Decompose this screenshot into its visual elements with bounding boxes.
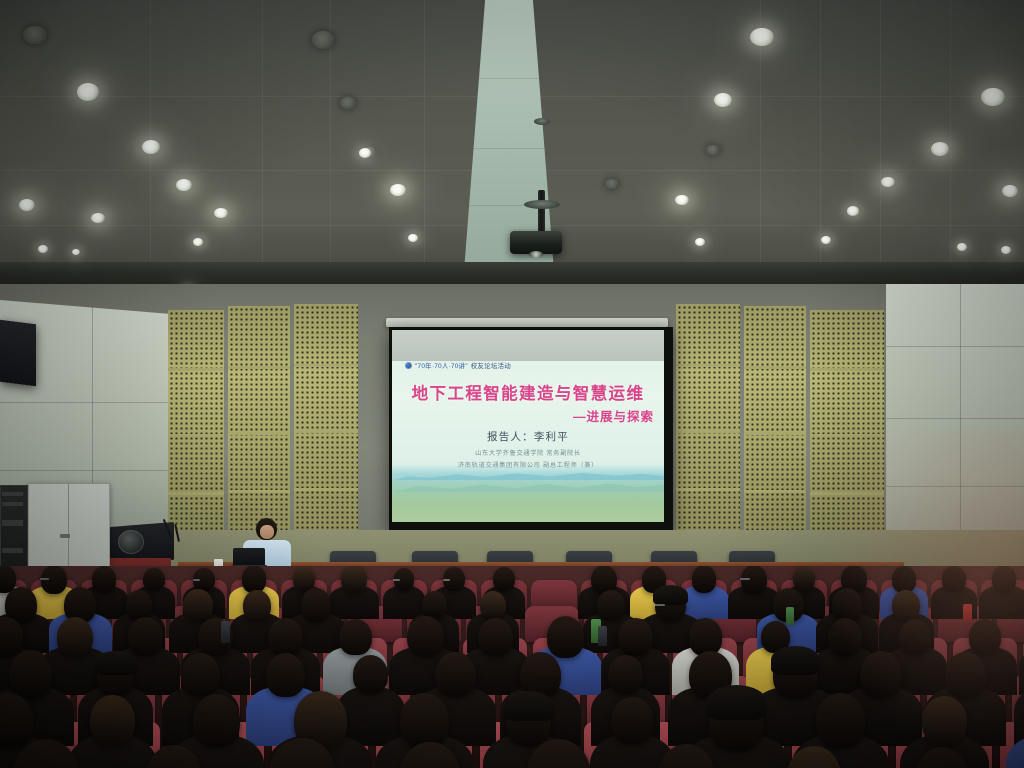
attendee-head [992,566,1017,593]
recessed-downlight-icon [312,31,334,48]
baseball-cap-icon [653,585,688,605]
wall-panel-right [886,284,1024,554]
recessed-downlight-icon [359,148,371,157]
attendee-head [860,651,902,698]
attendee-head [242,566,267,593]
forum-logo-icon [405,362,412,369]
slide-presenter: 报告人：李利平 [392,429,664,444]
attendee-head [597,590,625,621]
attendee-head [435,652,476,698]
attendee-head [608,655,643,694]
slide-ridge-near [392,478,664,492]
slide-affiliation-1: 山东大学齐鲁交通学院 常务副院长 [392,448,664,457]
recessed-downlight-icon [23,26,47,45]
attendee-head [969,619,1001,655]
attendee-head [128,617,163,656]
attendee-head [689,618,723,655]
eyeglasses-icon [443,579,451,581]
projector-lens-icon [529,251,543,258]
attendee-head [181,653,220,696]
attendee-head [143,568,164,592]
slide-top-band [392,330,664,361]
attendee-head [9,650,53,699]
recessed-downlight-icon [821,236,831,244]
attendee-head [547,616,584,658]
acoustic-panel-left-outer [168,310,224,534]
attendee-head [892,566,917,593]
attendee-head [480,591,506,620]
attendee-head [611,697,654,745]
recessed-downlight-icon [72,249,80,255]
attendee-head [57,617,93,657]
recessed-downlight-icon [847,206,859,215]
slide-subtitle: —进展与探索 [573,406,654,425]
acoustic-panel-right-outer [810,310,884,534]
ceiling-soffit-upper [0,262,1024,274]
attendee-head [92,566,116,593]
recessed-downlight-icon [193,238,203,246]
slide-badge-quote: "70年·70人·70讲" [415,360,468,370]
attendee-head [493,567,515,591]
water-bottle-icon [598,626,607,646]
attendee-head [892,590,920,621]
recessed-downlight-icon [390,184,406,196]
attendee-head [618,618,653,657]
attendee-head [126,590,152,619]
seated-presenter-face [260,525,274,539]
wall-speaker-icon [0,320,36,386]
attendee-head [341,566,366,593]
recessed-downlight-icon [142,140,160,154]
attendee-head [266,653,305,697]
recessed-downlight-icon [957,243,967,251]
projection-screen-housing [386,318,668,327]
recessed-downlight-icon [1001,246,1011,254]
recessed-downlight-icon [408,234,418,242]
baseball-cap-icon [94,651,136,675]
acoustic-panel-right-inner [676,304,740,534]
slide-badge-subtitle: 校友论坛活动 [471,360,511,370]
recessed-downlight-icon [981,88,1005,107]
recessed-downlight-icon [695,238,705,246]
eyeglasses-icon [654,604,665,606]
attendee-head [268,618,302,656]
attendee-head [90,695,135,745]
attendee-head [407,616,444,657]
slide-landscape-image [392,464,664,522]
attendee-head [193,694,241,747]
attendee-head [339,619,371,655]
slide-title: 地下工程智能建造与智慧运维 [392,380,664,404]
attendee-head [353,655,388,694]
acoustic-panel-right-mid [744,306,806,534]
recessed-downlight-icon [1002,185,1018,197]
recessed-downlight-icon [176,179,192,191]
recessed-downlight-icon [38,245,48,253]
presentation-slide: "70年·70人·70讲" 校友论坛活动 地下工程智能建造与智慧运维 —进展与探… [392,330,664,522]
baseball-cap-icon [503,691,554,720]
acoustic-panel-left-third [294,304,358,534]
acoustic-panel-left-inner [228,306,290,534]
recessed-downlight-icon [77,83,99,100]
audience-area [0,566,1024,768]
ceiling-projector-pole [538,190,545,232]
attendee-head [243,590,271,621]
eyeglasses-icon [193,579,200,581]
lecture-hall-photo: "70年·70人·70讲" 校友论坛活动 地下工程智能建造与智慧运维 —进展与探… [0,0,1024,768]
attendee-head [832,588,863,622]
attendee-head [793,567,814,591]
university-seal-icon [118,530,144,554]
attendee-head [692,566,717,593]
ceiling-projector-collar [524,200,560,209]
laptop-icon [233,548,265,566]
baseball-cap-icon [771,646,821,674]
attendee-head [922,696,967,746]
recessed-downlight-icon [340,97,356,109]
attendee-head [301,588,331,622]
attendee-head [816,693,865,747]
water-bottle-icon [221,621,230,643]
baseball-cap-icon [706,685,767,720]
recessed-downlight-icon [931,142,949,156]
eyeglasses-icon [393,579,400,581]
recessed-downlight-icon [714,93,732,107]
attendee-head [183,589,212,622]
attendee-head [945,652,986,698]
recessed-downlight-icon [19,199,35,211]
recessed-downlight-icon [750,28,774,47]
water-bottle-icon [963,604,972,621]
attendee-head [422,591,447,619]
attendee-head [828,618,862,656]
ceiling-projector-mount-plate [534,118,550,125]
projection-screen: "70年·70人·70讲" 校友论坛活动 地下工程智能建造与智慧运维 —进展与探… [392,330,664,522]
attendee-head [400,693,450,749]
attendee-head [899,619,931,655]
attendee-head [942,566,965,592]
attendee-head [478,618,513,657]
water-bottle-icon [786,607,794,625]
slide-ridge-far [392,470,664,480]
slide-badge: "70年·70人·70讲" 校友论坛活动 [405,360,511,370]
